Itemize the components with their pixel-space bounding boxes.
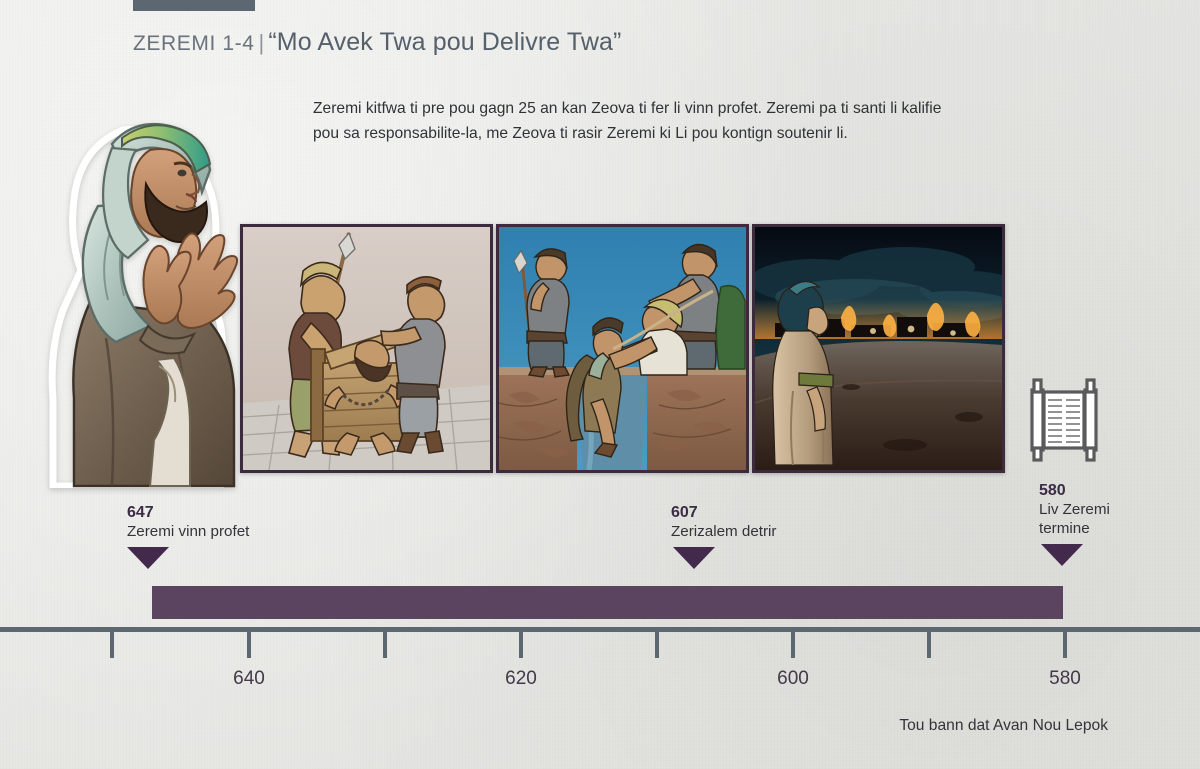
panel-jeremiah-in-stocks[interactable] (240, 224, 493, 473)
axis-tick (110, 632, 114, 658)
panel-jeremiah-lifted-from-cistern[interactable] (496, 224, 749, 473)
axis-tick-label-600: 600 (777, 668, 809, 690)
header-accent-bar (133, 0, 255, 11)
title-text: “Mo Avek Twa pou Delivre Twa” (268, 28, 621, 56)
axis-tick-label-580: 580 (1049, 668, 1081, 690)
timeline-axis (0, 627, 1200, 632)
timeline-footnote: Tou bann dat Avan Nou Lepok (899, 717, 1108, 735)
timeline-label: Zerizalem detrir (671, 522, 777, 541)
timeline-year: 580 (1039, 481, 1131, 500)
panel-jerusalem-burning[interactable] (752, 224, 1005, 473)
timeline-marker-icon (673, 547, 715, 569)
timeline-marker-icon (127, 547, 169, 569)
timeline-event-607[interactable]: 607 Zerizalem detrir (671, 503, 777, 569)
timeline-event-580[interactable]: 580 Liv Zeremi termine (1039, 481, 1131, 566)
page-title: ZEREMI 1-4|“Mo Avek Twa pou Delivre Twa” (133, 28, 621, 57)
axis-tick (791, 632, 795, 658)
axis-tick (247, 632, 251, 658)
title-separator: | (255, 30, 269, 55)
axis-tick-label-640: 640 (233, 668, 265, 690)
timeline-period-bar (152, 586, 1063, 619)
axis-tick (383, 632, 387, 658)
axis-tick (655, 632, 659, 658)
axis-tick (1063, 632, 1067, 658)
axis-tick (519, 632, 523, 658)
timeline-marker-icon (1041, 544, 1083, 566)
axis-tick (927, 632, 931, 658)
timeline-label: Liv Zeremi termine (1039, 500, 1131, 538)
timeline-label: Zeremi vinn profet (127, 522, 249, 541)
timeline-event-647[interactable]: 647 Zeremi vinn profet (127, 503, 249, 569)
timeline-year: 607 (671, 503, 777, 522)
scripture-reference: ZEREMI 1-4 (133, 32, 255, 55)
intro-paragraph: Zeremi kitfwa ti pre pou gagn 25 an kan … (313, 96, 945, 146)
axis-tick-label-620: 620 (505, 668, 537, 690)
scroll-icon (1024, 374, 1104, 466)
timeline-year: 647 (127, 503, 249, 522)
